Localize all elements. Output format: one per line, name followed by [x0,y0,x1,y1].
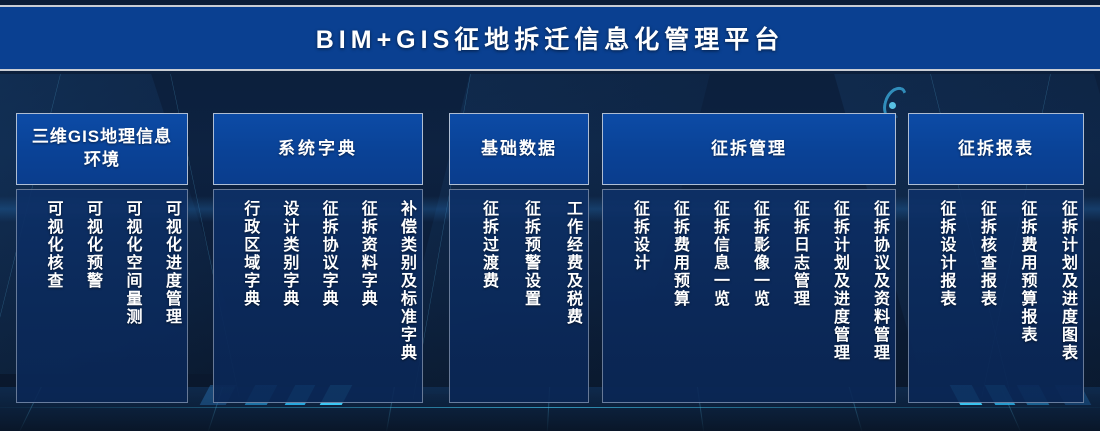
module-item[interactable]: 征拆费用预算 [649,200,689,308]
module-item[interactable]: 工作经费及税费 [540,200,582,326]
module-card-basic-data[interactable]: 基础数据 工作经费及税费 征拆预警设置 征拆过渡费 [449,113,589,403]
module-item[interactable]: 可视化预警 [63,200,103,290]
module-item[interactable]: 征拆核查报表 [956,200,997,308]
module-card-system-dictionary[interactable]: 系统字典 补偿类别及标准字典 征拆资料字典 征拆协议字典 设计类别字典 行政区域… [213,113,423,403]
module-card-header: 系统字典 [213,113,423,185]
module-item[interactable]: 征拆资料字典 [338,200,377,308]
module-item[interactable]: 征拆协议及资料管理 [849,200,889,362]
module-card-header: 征拆报表 [908,113,1084,185]
module-item[interactable]: 征拆影像一览 [729,200,769,308]
module-item[interactable]: 可视化核查 [23,200,63,290]
module-item[interactable]: 征拆预警设置 [498,200,540,308]
module-card-title: 三维GIS地理信息环境 [23,126,181,172]
module-card-header: 三维GIS地理信息环境 [16,113,188,185]
module-item[interactable]: 征拆设计 [609,200,649,272]
module-card-body: 征拆计划及进度图表 征拆费用预算报表 征拆核查报表 征拆设计报表 [908,189,1084,403]
module-item[interactable]: 征拆费用预算报表 [996,200,1037,344]
module-item[interactable]: 征拆计划及进度管理 [809,200,849,362]
module-item[interactable]: 征拆计划及进度图表 [1037,200,1078,362]
module-card-acquisition-management[interactable]: 征拆管理 征拆协议及资料管理 征拆计划及进度管理 征拆日志管理 征拆影像一览 征… [602,113,896,403]
module-item[interactable]: 可视化空间量测 [102,200,142,326]
page-title: BIM+GIS征地拆迁信息化管理平台 [316,20,785,56]
platform-architecture-diagram: BIM+GIS征地拆迁信息化管理平台 三维GIS地理信息环境 可视化进度管理 可… [0,0,1100,431]
module-card-header: 基础数据 [449,113,589,185]
module-item[interactable]: 征拆设计报表 [915,200,956,308]
platform-title-bar: BIM+GIS征地拆迁信息化管理平台 [0,5,1100,71]
horizon-line [0,407,1100,408]
module-item[interactable]: 可视化进度管理 [142,200,182,326]
module-card-acquisition-reports[interactable]: 征拆报表 征拆计划及进度图表 征拆费用预算报表 征拆核查报表 征拆设计报表 [908,113,1084,403]
module-card-title: 征拆管理 [711,138,787,161]
module-card-title: 系统字典 [278,138,358,161]
swirl-dot-icon [889,102,896,109]
module-item[interactable]: 征拆日志管理 [769,200,809,308]
module-item[interactable]: 征拆过渡费 [456,200,498,290]
module-card-body: 征拆协议及资料管理 征拆计划及进度管理 征拆日志管理 征拆影像一览 征拆信息一览… [602,189,896,403]
module-item[interactable]: 征拆信息一览 [689,200,729,308]
module-item[interactable]: 行政区域字典 [220,200,259,308]
module-item[interactable]: 征拆协议字典 [298,200,337,308]
module-card-three-d-gis[interactable]: 三维GIS地理信息环境 可视化进度管理 可视化空间量测 可视化预警 可视化核查 [16,113,188,403]
module-card-header: 征拆管理 [602,113,896,185]
module-item[interactable]: 补偿类别及标准字典 [377,200,416,362]
module-card-body: 可视化进度管理 可视化空间量测 可视化预警 可视化核查 [16,189,188,403]
module-card-body: 工作经费及税费 征拆预警设置 征拆过渡费 [449,189,589,403]
module-card-title: 基础数据 [481,138,557,161]
module-item[interactable]: 设计类别字典 [259,200,298,308]
module-card-title: 征拆报表 [958,138,1034,161]
module-card-body: 补偿类别及标准字典 征拆资料字典 征拆协议字典 设计类别字典 行政区域字典 [213,189,423,403]
